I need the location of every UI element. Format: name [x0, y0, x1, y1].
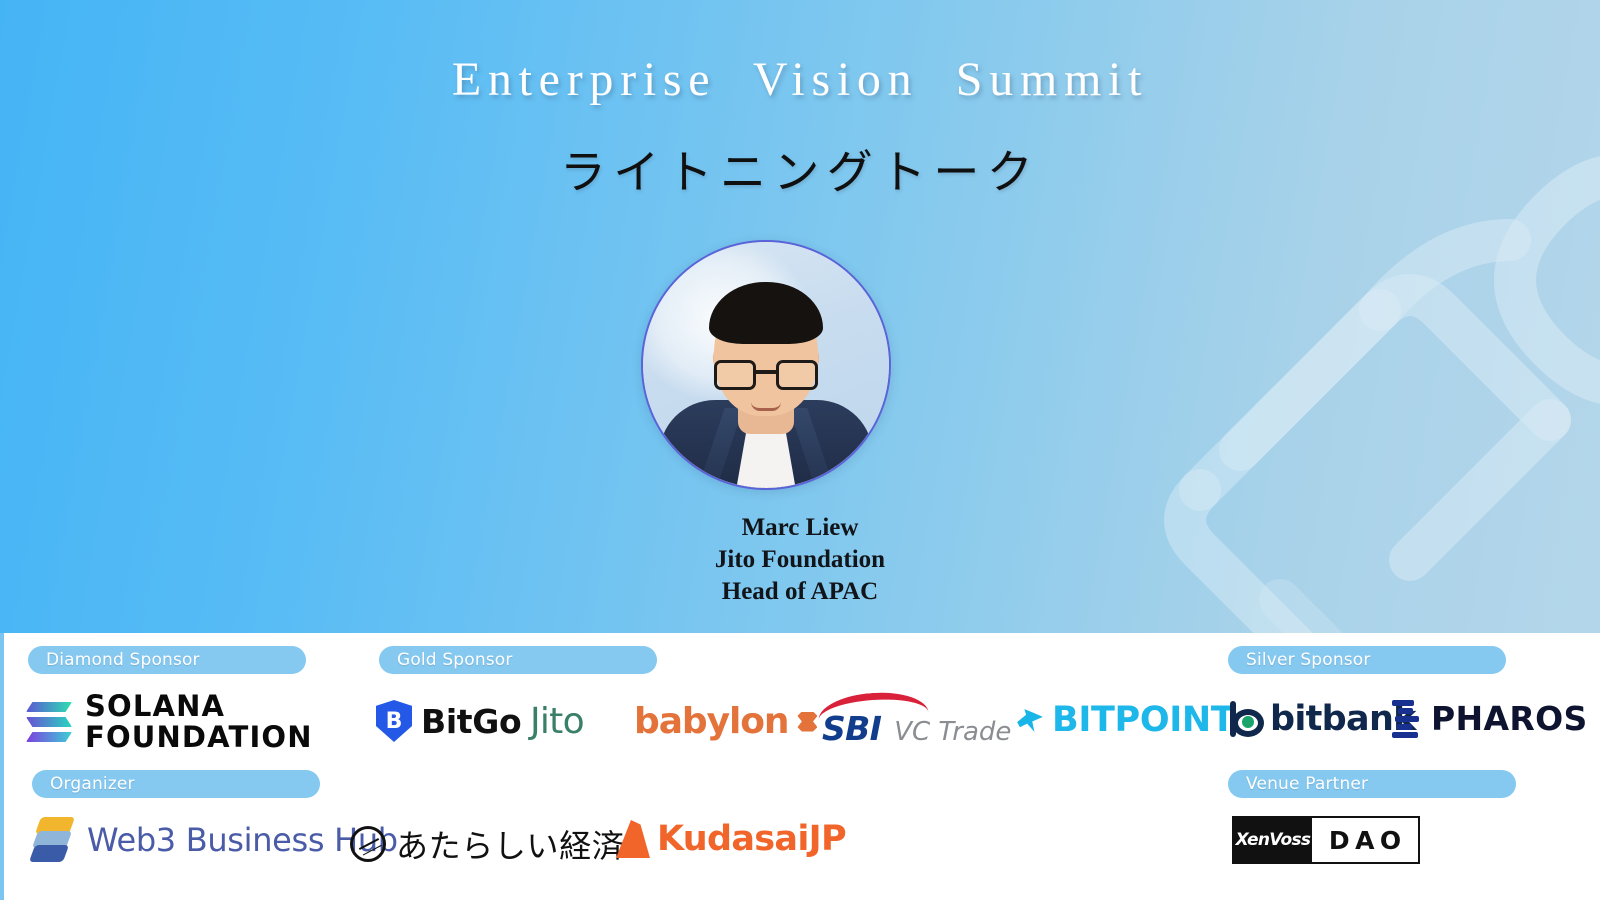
jito-wordmark: Jito — [530, 701, 584, 742]
sbi-vc-trade-label: VC Trade — [894, 717, 1011, 747]
badge-gold-sponsor: Gold Sponsor — [379, 646, 657, 674]
glasses-lens-left — [714, 360, 756, 390]
bitbank-icon — [1230, 701, 1264, 737]
dao-wordmark: DAO — [1312, 818, 1418, 862]
bitcoin-b-glyph: B — [386, 709, 403, 734]
kudasai-icon — [616, 820, 650, 858]
logo-xenvoss-dao[interactable]: XenVoss DAO — [1232, 816, 1420, 864]
babylon-wordmark: babylon — [634, 701, 788, 742]
bitgo-shield-icon: B — [376, 700, 412, 742]
xenvoss-mark: XenVoss — [1234, 818, 1312, 862]
solana-line1: SOLANA — [85, 691, 313, 722]
speaker-role: Head of APAC — [0, 576, 1600, 608]
logo-kudasai-jp[interactable]: KudasaiJP — [616, 819, 846, 859]
bird-icon — [1016, 707, 1044, 733]
page-subtitle: ライトニングトーク — [0, 136, 1600, 202]
speaker-info: Marc Liew Jito Foundation Head of APAC — [0, 512, 1600, 608]
web3-hub-icon — [32, 817, 74, 863]
speaker-name: Marc Liew — [0, 512, 1600, 544]
glasses-icon — [714, 360, 818, 390]
badge-diamond-sponsor: Diamond Sponsor — [28, 646, 306, 674]
compass-arrow-icon — [350, 826, 386, 862]
avatar — [641, 240, 891, 490]
babylon-icon — [797, 712, 817, 732]
logo-babylon[interactable]: babylon — [634, 701, 817, 742]
solana-icon — [26, 702, 72, 742]
solana-line2: FOUNDATION — [85, 722, 313, 753]
page-title: Enterprise Vision Summit — [0, 52, 1600, 107]
badge-silver-sponsor: Silver Sponsor — [1228, 646, 1506, 674]
hero-banner: Enterprise Vision Summit ライトニングトーク — [0, 0, 1600, 633]
pharos-wordmark: PHAROS — [1431, 699, 1588, 738]
badge-organizer: Organizer — [32, 770, 320, 798]
portrait-hair — [709, 282, 823, 344]
logo-bitbank[interactable]: bitbank — [1230, 699, 1416, 739]
summit-slide: Enterprise Vision Summit ライトニングトーク — [0, 0, 1600, 900]
logo-pharos[interactable]: PHAROS — [1392, 699, 1588, 738]
speaker-portrait-image — [643, 242, 889, 488]
portrait-mouth — [751, 402, 781, 411]
bitpoint-wordmark: BITPOINT — [1052, 700, 1234, 740]
glasses-lens-right — [776, 360, 818, 390]
atarashii-keizai-wordmark: あたらしい経済 — [396, 821, 624, 867]
bitgo-wordmark: BitGo — [421, 702, 521, 741]
logo-jito[interactable]: Jito — [530, 701, 584, 742]
kudasai-wordmark: KudasaiJP — [657, 819, 846, 859]
glasses-bridge — [756, 370, 776, 374]
solana-wordmark: SOLANA FOUNDATION — [85, 691, 313, 753]
sponsor-strip: Diamond Sponsor Gold Sponsor Silver Spon… — [0, 633, 1600, 900]
logo-web3-business-hub[interactable]: Web3 Business Hub — [32, 817, 398, 863]
logo-atarashii-keizai[interactable]: あたらしい経済 — [350, 821, 624, 867]
logo-bitgo[interactable]: B BitGo — [376, 700, 521, 742]
logo-bitpoint[interactable]: BITPOINT — [1016, 700, 1234, 740]
pharos-icon — [1392, 700, 1420, 738]
logo-solana-foundation[interactable]: SOLANA FOUNDATION — [26, 691, 313, 753]
badge-venue-partner: Venue Partner — [1228, 770, 1516, 798]
speaker-organization: Jito Foundation — [0, 544, 1600, 576]
